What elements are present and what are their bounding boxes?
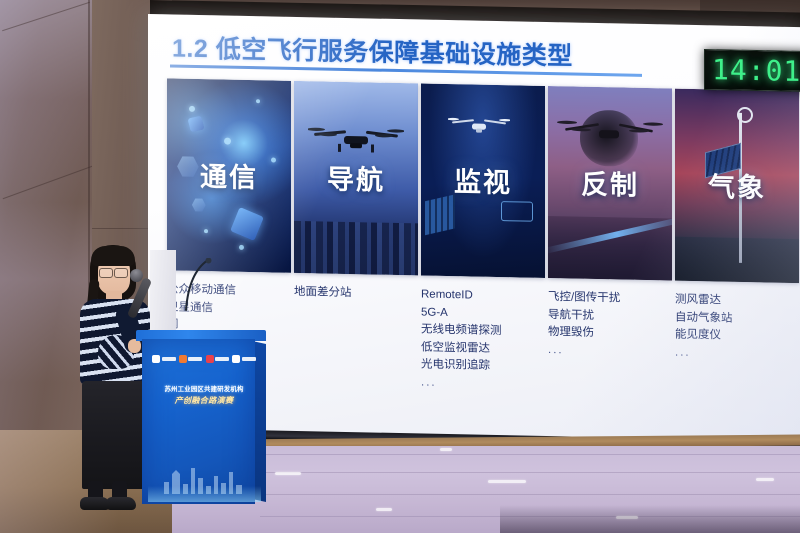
partner-logo-4 xyxy=(232,355,256,363)
panel-image-counter-uas: 反制 xyxy=(548,86,672,280)
panel-label-communication: 通信 xyxy=(167,154,291,195)
drone-icon xyxy=(448,115,510,138)
sponsor-logo-row xyxy=(152,353,256,365)
panel-items-surveillance: RemoteID 5G-A 无线电频谱探测 低空监视雷达 光电识别追踪 ... xyxy=(421,286,545,393)
panel-item-ellipsis: ... xyxy=(421,374,545,394)
podium: 苏州工业园区共建研发机构 产创融合路演赛 xyxy=(136,330,266,512)
shoe-right xyxy=(106,497,136,510)
clock-time: 14:01 xyxy=(712,53,800,88)
led-clock-panel: 14:01 xyxy=(704,49,800,92)
floor-shadow xyxy=(500,505,800,533)
panel-image-surveillance: 监视 xyxy=(421,83,545,277)
panel-item: 光电识别追踪 xyxy=(421,356,545,376)
panel-item: 飞控/图传干扰 xyxy=(548,289,672,309)
podium-front-panel: 苏州工业园区共建研发机构 产创融合路演赛 xyxy=(142,339,255,504)
panel-label-meteorology: 气象 xyxy=(675,164,799,205)
slide-panel-counter-uas: 反制 飞控/图传干扰 导航干扰 物理毁伤 ... xyxy=(548,86,672,361)
panel-item: 测风雷达 xyxy=(675,292,799,312)
drone-icon xyxy=(308,122,404,158)
slide-panel-navigation: 导航 地面差分站 xyxy=(294,81,418,304)
panel-image-meteorology: 气象 xyxy=(675,89,799,283)
hair-fringe xyxy=(91,246,135,266)
panel-item-ellipsis: ... xyxy=(548,342,672,362)
panel-image-communication: 通信 xyxy=(167,78,291,272)
panel-label-counter-uas: 反制 xyxy=(548,162,672,203)
panel-items-counter-uas: 飞控/图传干扰 导航干扰 物理毁伤 ... xyxy=(548,289,672,361)
podium-organization-text: 苏州工业园区共建研发机构 xyxy=(150,384,258,393)
eyeglasses-right-lens xyxy=(114,268,128,278)
panel-image-navigation: 导航 xyxy=(294,81,418,275)
eyeglasses-left-lens xyxy=(99,268,113,278)
panel-label-surveillance: 监视 xyxy=(421,159,545,200)
partner-logo-2 xyxy=(179,355,203,363)
slide-panel-surveillance: 监视 RemoteID 5G-A 无线电频谱探测 低空监视雷达 光电识别追踪 .… xyxy=(421,83,545,393)
panel-item: 无线电频谱探测 xyxy=(421,321,545,341)
panel-item: 地面差分站 xyxy=(294,284,418,304)
panel-item-ellipsis: ... xyxy=(675,344,799,364)
podium-event-text: 产创融合路演赛 xyxy=(150,395,258,406)
panel-item: 物理毁伤 xyxy=(548,324,672,344)
panel-label-navigation: 导航 xyxy=(294,157,418,198)
panel-items-navigation: 地面差分站 xyxy=(294,284,418,304)
slide-panel-meteorology: 气象 测风雷达 自动气象站 能见度仪 ... xyxy=(675,89,799,364)
podium-glow xyxy=(148,486,261,502)
presentation-scene: 1.2 低空飞行服务保障基础设施类型 xyxy=(0,0,800,533)
panel-items-meteorology: 测风雷达 自动气象站 能见度仪 ... xyxy=(675,292,799,364)
sip-logo xyxy=(152,355,176,363)
panel-item: 能见度仪 xyxy=(675,327,799,347)
partner-logo-3 xyxy=(206,355,230,363)
drone-icon xyxy=(555,113,665,155)
gooseneck-microphone xyxy=(178,258,212,318)
panel-item: RemoteID xyxy=(421,286,545,306)
